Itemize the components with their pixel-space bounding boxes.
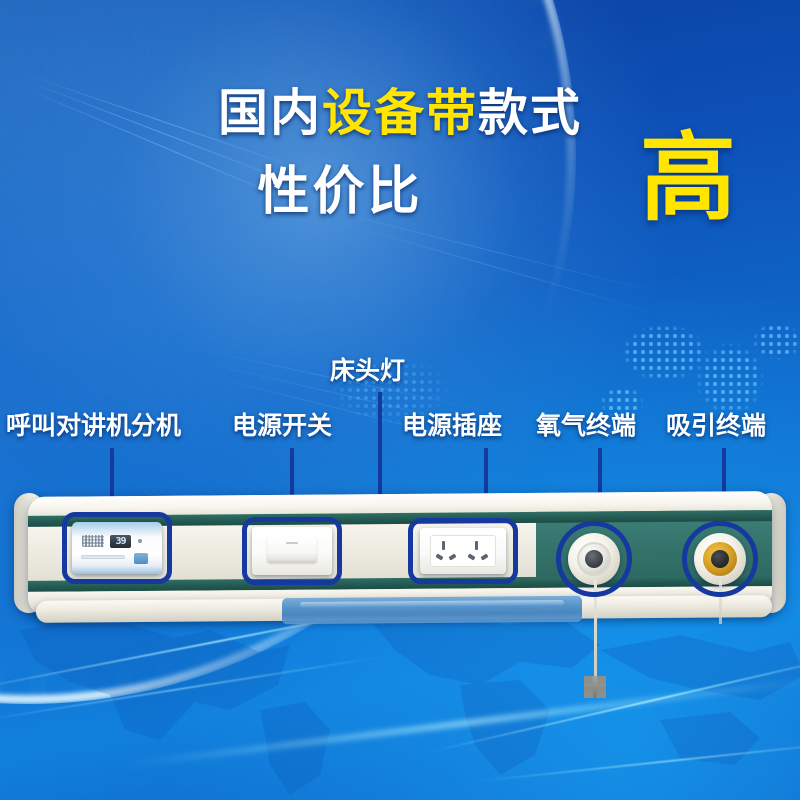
pull-cord-weight[interactable] <box>584 676 606 698</box>
intercom-call-button[interactable] <box>134 553 148 564</box>
socket-pin-a <box>435 553 443 560</box>
socket-pin-live-right <box>475 541 478 550</box>
callout-label-power-switch: 电源开关 <box>232 413 332 438</box>
intercom-card-slot <box>81 555 125 559</box>
callout-label-oxygen-terminal: 氧气终端 <box>536 413 636 438</box>
callout-label-nurse-call-intercom: 呼叫对讲机分机 <box>6 413 181 438</box>
intercom-indicator-led <box>138 539 142 543</box>
callout-label-bedside-lamp: 床头灯 <box>330 358 405 383</box>
panel-slider-bracket[interactable] <box>282 596 582 624</box>
callout-label-power-socket: 电源插座 <box>402 413 502 438</box>
socket-pin-live-left <box>442 541 445 550</box>
suction-pull-cord[interactable] <box>719 580 722 624</box>
callout-group: 呼叫对讲机分机 电源开关 床头灯 电源插座 氧气终端 吸引终端 <box>0 0 800 800</box>
socket-pin-d <box>480 553 488 560</box>
socket-pin-c <box>467 553 475 560</box>
rocker-switch[interactable] <box>267 537 317 563</box>
intercom-display: 39 <box>110 535 131 548</box>
oxygen-port <box>585 550 603 568</box>
poster-canvas: 国内设备带款式 性价比 高 呼叫对讲机分机 电源开关 床头灯 电源插座 氧气终端… <box>0 0 800 800</box>
power-socket-unit[interactable] <box>420 528 506 574</box>
power-switch-unit[interactable] <box>252 527 332 575</box>
nurse-call-intercom-unit[interactable]: 39 <box>72 522 162 574</box>
suction-terminal-outlet[interactable] <box>694 533 746 585</box>
socket-faceplate <box>430 535 496 567</box>
socket-pin-b <box>448 553 456 560</box>
pull-cord-weight-shape <box>584 676 606 698</box>
suction-port <box>711 550 729 568</box>
oxygen-terminal-outlet[interactable] <box>568 533 620 585</box>
oxygen-pull-cord[interactable] <box>594 580 597 680</box>
callout-label-suction-terminal: 吸引终端 <box>666 413 766 438</box>
intercom-speaker-grille <box>82 535 104 547</box>
